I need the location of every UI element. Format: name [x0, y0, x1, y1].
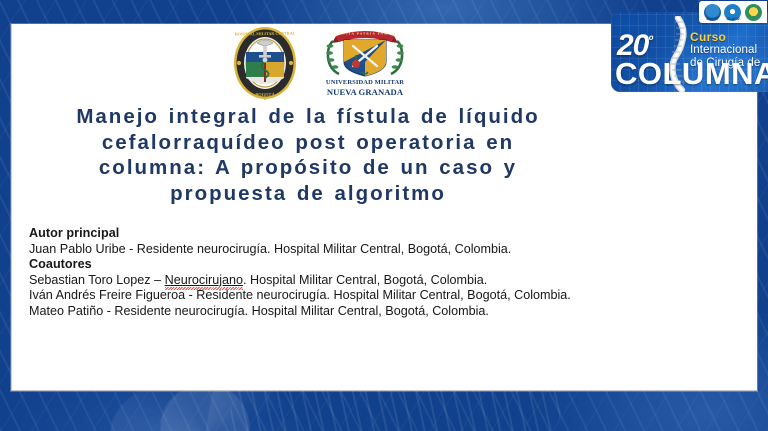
coauthor-1-affiliation: . Hospital Militar Central, Bogotá, Colo… [243, 273, 487, 287]
coauthor-line-2: Iván Andrés Freire Figueroa - Residente … [29, 288, 629, 304]
svg-text:SCIENTIA PATRIA FAMILIA: SCIENTIA PATRIA FAMILIA [330, 32, 400, 36]
umng-label-line1: UNIVERSIDAD MILITAR [316, 80, 414, 87]
title-line-2: cefalorraquídeo post operatoria en [18, 130, 598, 156]
banner-internacional-label: Internacional [690, 45, 757, 57]
coauthor-line-3: Mateo Patiño - Residente neurocirugía. H… [29, 304, 629, 320]
banner-curso-label: Curso [690, 31, 726, 43]
authors-block: Autor principal Juan Pablo Uribe - Resid… [29, 226, 629, 320]
silaco-logo-caption: SILACO [724, 18, 741, 22]
page-title: Manejo integral de la fístula de líquido… [18, 104, 598, 206]
principal-author-line: Juan Pablo Uribe - Residente neurocirugí… [29, 242, 629, 258]
sccot-logo-icon: SCCOT [704, 4, 721, 21]
panel-bottom-edge [11, 390, 757, 391]
svg-text:HOSPITAL MILITAR CENTRAL: HOSPITAL MILITAR CENTRAL [235, 30, 296, 36]
silaco-logo-icon: SILACO [724, 4, 741, 21]
coauthors-heading: Coautores [29, 257, 629, 273]
banner-ordinal-mark: º [648, 33, 651, 47]
aaot-logo-icon [745, 4, 762, 21]
congress-banner: 20º Curso Internacional de Cirugía de CO… [611, 12, 768, 92]
coauthor-line-1: Sebastian Toro Lopez – Neurocirujano. Ho… [29, 273, 629, 289]
universidad-militar-nueva-granada-seal-icon: SCIENTIA PATRIA FAMILIA UNIVERSIDAD MILI… [316, 26, 414, 104]
panel-left-edge [11, 24, 12, 391]
coauthor-1-name: Sebastian Toro Lopez – [29, 273, 165, 287]
title-line-4: propuesta de algoritmo [18, 181, 598, 207]
principal-author-heading: Autor principal [29, 226, 629, 242]
coauthor-1-specialty-misspelled: Neurocirujano [165, 273, 243, 287]
title-line-3: columna: A propósito de un caso y [18, 155, 598, 181]
presentation-slide: HOSPITAL MILITAR CENTRAL BOGOTÁ SCIENTIA… [0, 0, 768, 431]
organization-logos: SCCOT SILACO [699, 1, 767, 23]
title-line-1: Manejo integral de la fístula de líquido [18, 104, 598, 130]
banner-columna-label: COLUMNA [615, 58, 768, 89]
sccot-logo-caption: SCCOT [704, 18, 721, 22]
umng-label-line2: NUEVA GRANADA [316, 88, 414, 97]
hospital-militar-central-seal-icon: HOSPITAL MILITAR CENTRAL BOGOTÁ [232, 26, 298, 100]
institution-logos: HOSPITAL MILITAR CENTRAL BOGOTÁ SCIENTIA… [226, 22, 422, 104]
